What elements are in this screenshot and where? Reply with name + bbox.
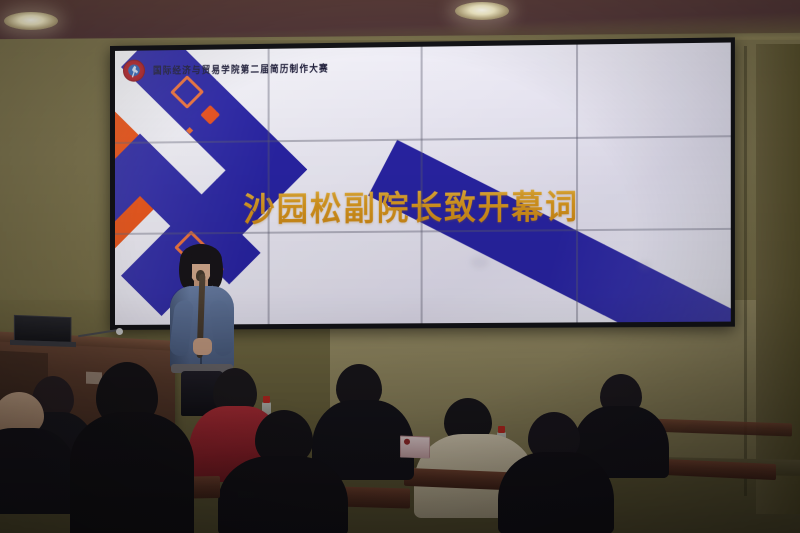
slide-header-text: 国际经济与贸易学院第二届简历制作大赛 [153, 61, 329, 77]
slide-title: 沙园松副院长致开幕词 [243, 179, 579, 230]
gooseneck-microphone-head [116, 328, 123, 335]
university-emblem-icon [123, 60, 145, 82]
audience: 欢迎 [0, 360, 800, 533]
screen-smudge [639, 261, 651, 270]
speaker-hands [193, 338, 212, 355]
presenter-laptop [14, 315, 72, 343]
speaker-hair-left [179, 252, 192, 288]
name-card-tent [400, 435, 430, 458]
slide-blue-diagonal-stripe [368, 140, 731, 325]
downlight-right-icon [455, 2, 509, 20]
slide-header: 国际经济与贸易学院第二届简历制作大赛 [123, 57, 329, 82]
attendee-hair-and-shoulders [70, 412, 194, 533]
downlight-left-icon [4, 12, 58, 30]
attendee-shoulders [498, 452, 614, 533]
smartphone [238, 491, 254, 499]
name-card-emblem-icon [404, 439, 410, 445]
photo-scene: 国际经济与贸易学院第二届简历制作大赛 沙园松副院长致开幕词 [0, 0, 800, 533]
screen-smudge [471, 256, 489, 268]
speaker-hair-right [210, 252, 223, 288]
